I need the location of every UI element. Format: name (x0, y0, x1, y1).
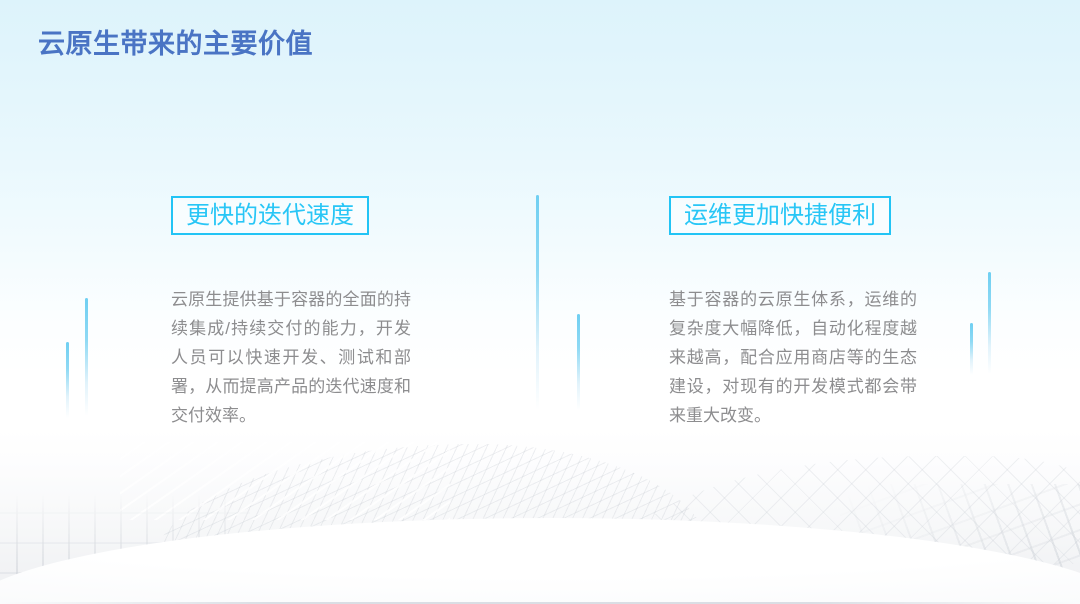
slide-canvas: 云原生带来的主要价值 更快的迭代速度 云原生提供基于容器的全面的持续集成/持续交… (0, 0, 1080, 604)
value-card-2: 运维更加快捷便利 基于容器的云原生体系，运维的复杂度大幅降低，自动化程度越来越高… (669, 196, 917, 430)
value-card-1-heading: 更快的迭代速度 (171, 196, 369, 235)
value-card-1-body: 云原生提供基于容器的全面的持续集成/持续交付的能力，开发人员可以快速开发、测试和… (171, 285, 411, 430)
accent-line-middle-short (577, 314, 580, 410)
accent-line-right-tall (988, 272, 991, 374)
accent-line-right-short (970, 323, 973, 375)
accent-line-left-short (66, 342, 69, 418)
accent-line-middle-tall (536, 195, 539, 410)
background-landscape-image (0, 429, 1080, 604)
value-card-1: 更快的迭代速度 云原生提供基于容器的全面的持续集成/持续交付的能力，开发人员可以… (171, 196, 411, 430)
page-title: 云原生带来的主要价值 (38, 22, 313, 61)
accent-line-left-tall (85, 298, 88, 416)
value-card-2-heading: 运维更加快捷便利 (669, 196, 891, 235)
value-card-2-body: 基于容器的云原生体系，运维的复杂度大幅降低，自动化程度越来越高，配合应用商店等的… (669, 285, 917, 430)
